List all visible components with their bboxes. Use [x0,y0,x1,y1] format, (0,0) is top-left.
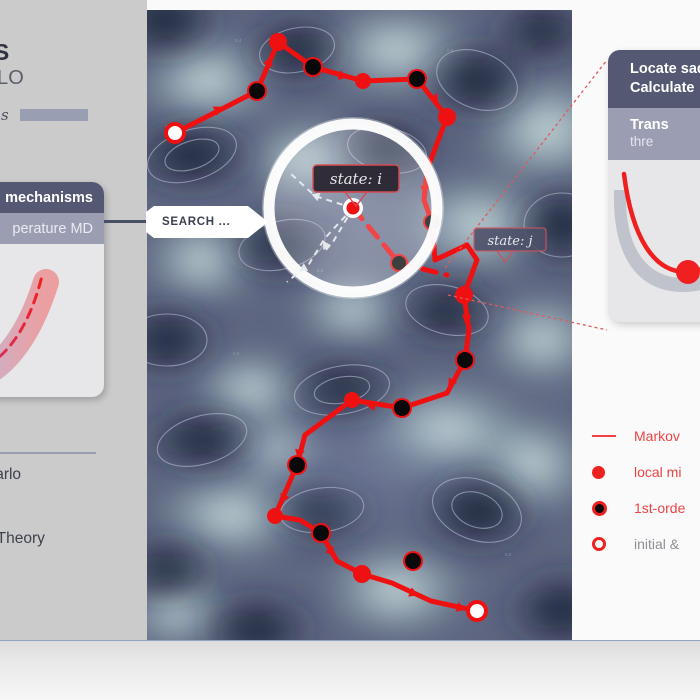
mechanisms-card-subheader: perature MD [0,213,104,244]
legend-label-local-min: local mi [634,464,681,480]
kmc-inset-chart [0,244,104,397]
svg-text:0.6: 0.6 [431,436,438,441]
svg-text:0.2: 0.2 [505,552,512,557]
saddle-card-header-line1: Locate sad [630,60,700,79]
sidebar-divider [0,452,96,454]
left-sidebar: ULATIONS ONTE CARLO < ns mechanisms pera… [0,0,147,640]
svg-text:0.6: 0.6 [385,36,392,41]
legend: Markov local mi 1st-orde initial & [592,418,685,562]
slide-title-block: ULATIONS ONTE CARLO [0,40,142,91]
ring-dot-swatch-icon [592,537,634,551]
saddle-card-header-line2: Calculate [630,79,700,98]
slide-content: ULATIONS ONTE CARLO < ns mechanisms pera… [0,0,700,640]
saddle-point-card[interactable]: Locate sad Calculate Trans thre [608,50,700,322]
page-subtitle: ONTE CARLO [0,66,142,91]
saddle-card-sub-line1: Trans [630,116,700,134]
page-title: ULATIONS [0,40,142,64]
pes-contour-svg: 0.40.6 0.81.0 0.20.4 0.60.2 [147,10,572,640]
energy-barrier-chart: i [608,160,700,310]
app-bottom-bar [0,640,700,700]
mechanisms-card-body: KMC [0,244,104,397]
svg-text:0.4: 0.4 [235,38,242,43]
legend-label-initial-final: initial & [634,536,679,552]
svg-text:state: i: state: i [330,170,382,188]
timescale-bar [20,109,88,121]
mechanisms-card[interactable]: mechanisms perature MD [0,182,104,397]
slide-canvas: ULATIONS ONTE CARLO < ns mechanisms pera… [0,0,700,700]
legend-label-markov: Markov [634,428,680,444]
line-swatch-icon [592,435,634,438]
saddle-card-subheader: Trans thre [608,108,700,160]
legend-item-first-order-saddle: 1st-orde [592,490,685,526]
legend-item-markov-chain: Markov [592,418,685,454]
search-button[interactable]: SEARCH ... [146,206,268,238]
legend-label-saddle: 1st-orde [634,500,685,516]
potential-energy-surface-map[interactable]: 0.40.6 0.81.0 0.20.4 0.60.2 [147,10,572,640]
svg-text:0.4: 0.4 [233,351,240,356]
svg-text:0.8: 0.8 [447,48,454,53]
saddle-card-header: Locate sad Calculate [608,50,700,108]
timescale-label: < ns [0,106,9,124]
sidebar-item-theory[interactable]: e Theory [0,530,45,548]
minimum-marker [676,260,700,284]
saddle-dot-swatch-icon [592,501,634,516]
legend-item-local-minimum: local mi [592,454,685,490]
sidebar-item-monte-carlo[interactable]: Carlo [0,466,21,484]
mechanisms-card-header: mechanisms [0,182,104,213]
search-button-label: SEARCH ... [146,216,230,228]
timescale-row: < ns [0,106,88,124]
right-panel: Locate sad Calculate Trans thre [572,0,700,640]
legend-item-initial-final: initial & [592,526,685,562]
svg-text:state: j: state: j [487,234,532,249]
search-connector-line [104,220,148,223]
saddle-card-body: i [608,160,700,310]
saddle-card-sub-line2: thre [630,134,700,151]
filled-dot-swatch-icon [592,466,634,479]
